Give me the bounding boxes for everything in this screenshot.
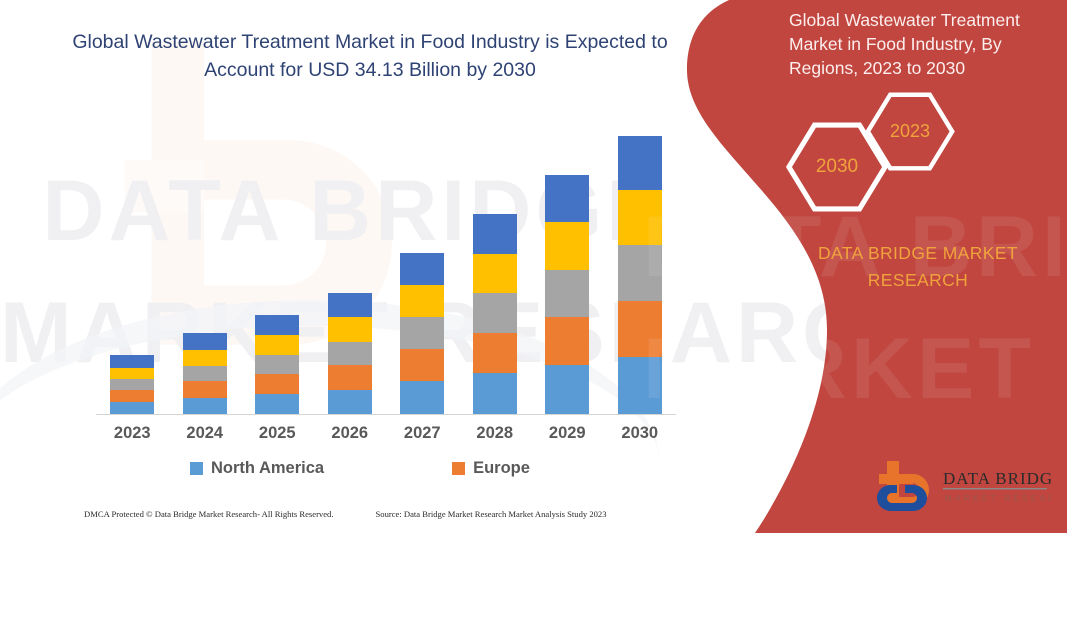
bar-segment xyxy=(328,317,372,341)
bar-segment xyxy=(110,355,154,367)
bar-segment xyxy=(545,317,589,365)
bar-segment xyxy=(545,365,589,414)
bar-segment xyxy=(400,381,444,414)
bar-segment xyxy=(183,381,227,397)
legend-color-swatch xyxy=(452,462,465,475)
stacked-bar xyxy=(400,253,444,414)
stacked-bar xyxy=(183,333,227,414)
bar-segment xyxy=(110,368,154,379)
footer-source: Source: Data Bridge Market Research Mark… xyxy=(376,509,607,519)
brand-panel: DATA BRIDGE MARKET RESEARCH Global Waste… xyxy=(677,0,1067,533)
bar-segment xyxy=(618,136,662,190)
bar-segment xyxy=(255,315,299,335)
x-axis-labels: 20232024202520262027202820292030 xyxy=(96,424,676,443)
panel-title: Global Wastewater Treatment Market in Fo… xyxy=(789,8,1051,80)
bar-segment xyxy=(328,342,372,366)
legend-color-swatch xyxy=(190,462,203,475)
bar-segment xyxy=(328,365,372,389)
bar-segment xyxy=(618,190,662,245)
legend-label: Europe xyxy=(473,459,530,478)
data-bridge-logo: DATA BRIDGE MARKET RESEARCH xyxy=(873,457,1051,513)
panel-watermark: DATA BRIDGE MARKET RESEARCH xyxy=(643,186,1063,430)
legend-item-europe[interactable]: Europe xyxy=(452,459,530,478)
x-axis-label: 2026 xyxy=(328,424,372,443)
legend-item-north-america[interactable]: North America xyxy=(190,459,324,478)
logo-name-line2: MARKET RESEARCH xyxy=(945,494,1051,503)
bar-segment xyxy=(183,366,227,381)
chart-plot-area xyxy=(96,120,676,415)
stacked-bar xyxy=(328,293,372,414)
infographic-canvas: DATA BRIDGE MARKET RESEARCH Global Waste… xyxy=(0,0,1067,533)
hex-badge-group: 2030 2023 xyxy=(783,92,963,212)
stacked-bar xyxy=(618,136,662,414)
bar-segment xyxy=(618,301,662,357)
bar-segment xyxy=(545,222,589,270)
bar-segment xyxy=(328,390,372,414)
bar-segment xyxy=(618,245,662,300)
x-axis-label: 2025 xyxy=(255,424,299,443)
bar-segment xyxy=(545,175,589,222)
hex-badge-2023-label: 2023 xyxy=(863,92,957,171)
legend-label: North America xyxy=(211,459,324,478)
brand-name: DATA BRIDGE MARKET RESEARCH xyxy=(773,240,1063,294)
bar-segment xyxy=(255,394,299,414)
bar-segment xyxy=(183,398,227,414)
x-axis-line xyxy=(96,414,676,415)
stacked-bar xyxy=(110,355,154,414)
x-axis-label: 2023 xyxy=(110,424,154,443)
bar-segment xyxy=(473,254,517,294)
footer-copyright: DMCA Protected © Data Bridge Market Rese… xyxy=(84,509,334,519)
stacked-bar xyxy=(473,214,517,414)
brand-line2: RESEARCH xyxy=(773,267,1063,294)
bar-segment xyxy=(400,349,444,382)
bar-group xyxy=(96,120,676,414)
bar-segment xyxy=(473,214,517,254)
x-axis-label: 2027 xyxy=(400,424,444,443)
stacked-bar xyxy=(545,175,589,414)
bar-segment xyxy=(400,285,444,318)
bar-segment xyxy=(255,374,299,394)
chart-legend: North AmericaEurope xyxy=(96,455,676,481)
bar-segment xyxy=(183,333,227,349)
hex-badge-2023: 2023 xyxy=(863,92,957,171)
bar-segment xyxy=(255,355,299,375)
bar-segment xyxy=(183,350,227,366)
bar-segment xyxy=(255,335,299,355)
x-axis-label: 2030 xyxy=(618,424,662,443)
bar-segment xyxy=(110,390,154,401)
panel-watermark-line2: MARKET RESEARCH xyxy=(643,308,1063,430)
x-axis-label: 2024 xyxy=(183,424,227,443)
bar-segment xyxy=(545,270,589,317)
footer: DMCA Protected © Data Bridge Market Rese… xyxy=(84,509,684,519)
bar-segment xyxy=(400,253,444,285)
stacked-bar xyxy=(255,315,299,414)
bar-segment xyxy=(110,402,154,414)
logo-name-line1: DATA BRIDGE xyxy=(943,469,1051,488)
bar-segment xyxy=(473,333,517,373)
bar-segment xyxy=(473,293,517,333)
bar-segment xyxy=(110,379,154,390)
bar-segment xyxy=(400,317,444,349)
page-title: Global Wastewater Treatment Market in Fo… xyxy=(60,28,680,85)
x-axis-label: 2029 xyxy=(545,424,589,443)
brand-line1: DATA BRIDGE MARKET xyxy=(773,240,1063,267)
bar-segment xyxy=(328,293,372,317)
x-axis-label: 2028 xyxy=(473,424,517,443)
bar-segment xyxy=(618,357,662,414)
bar-segment xyxy=(473,373,517,414)
